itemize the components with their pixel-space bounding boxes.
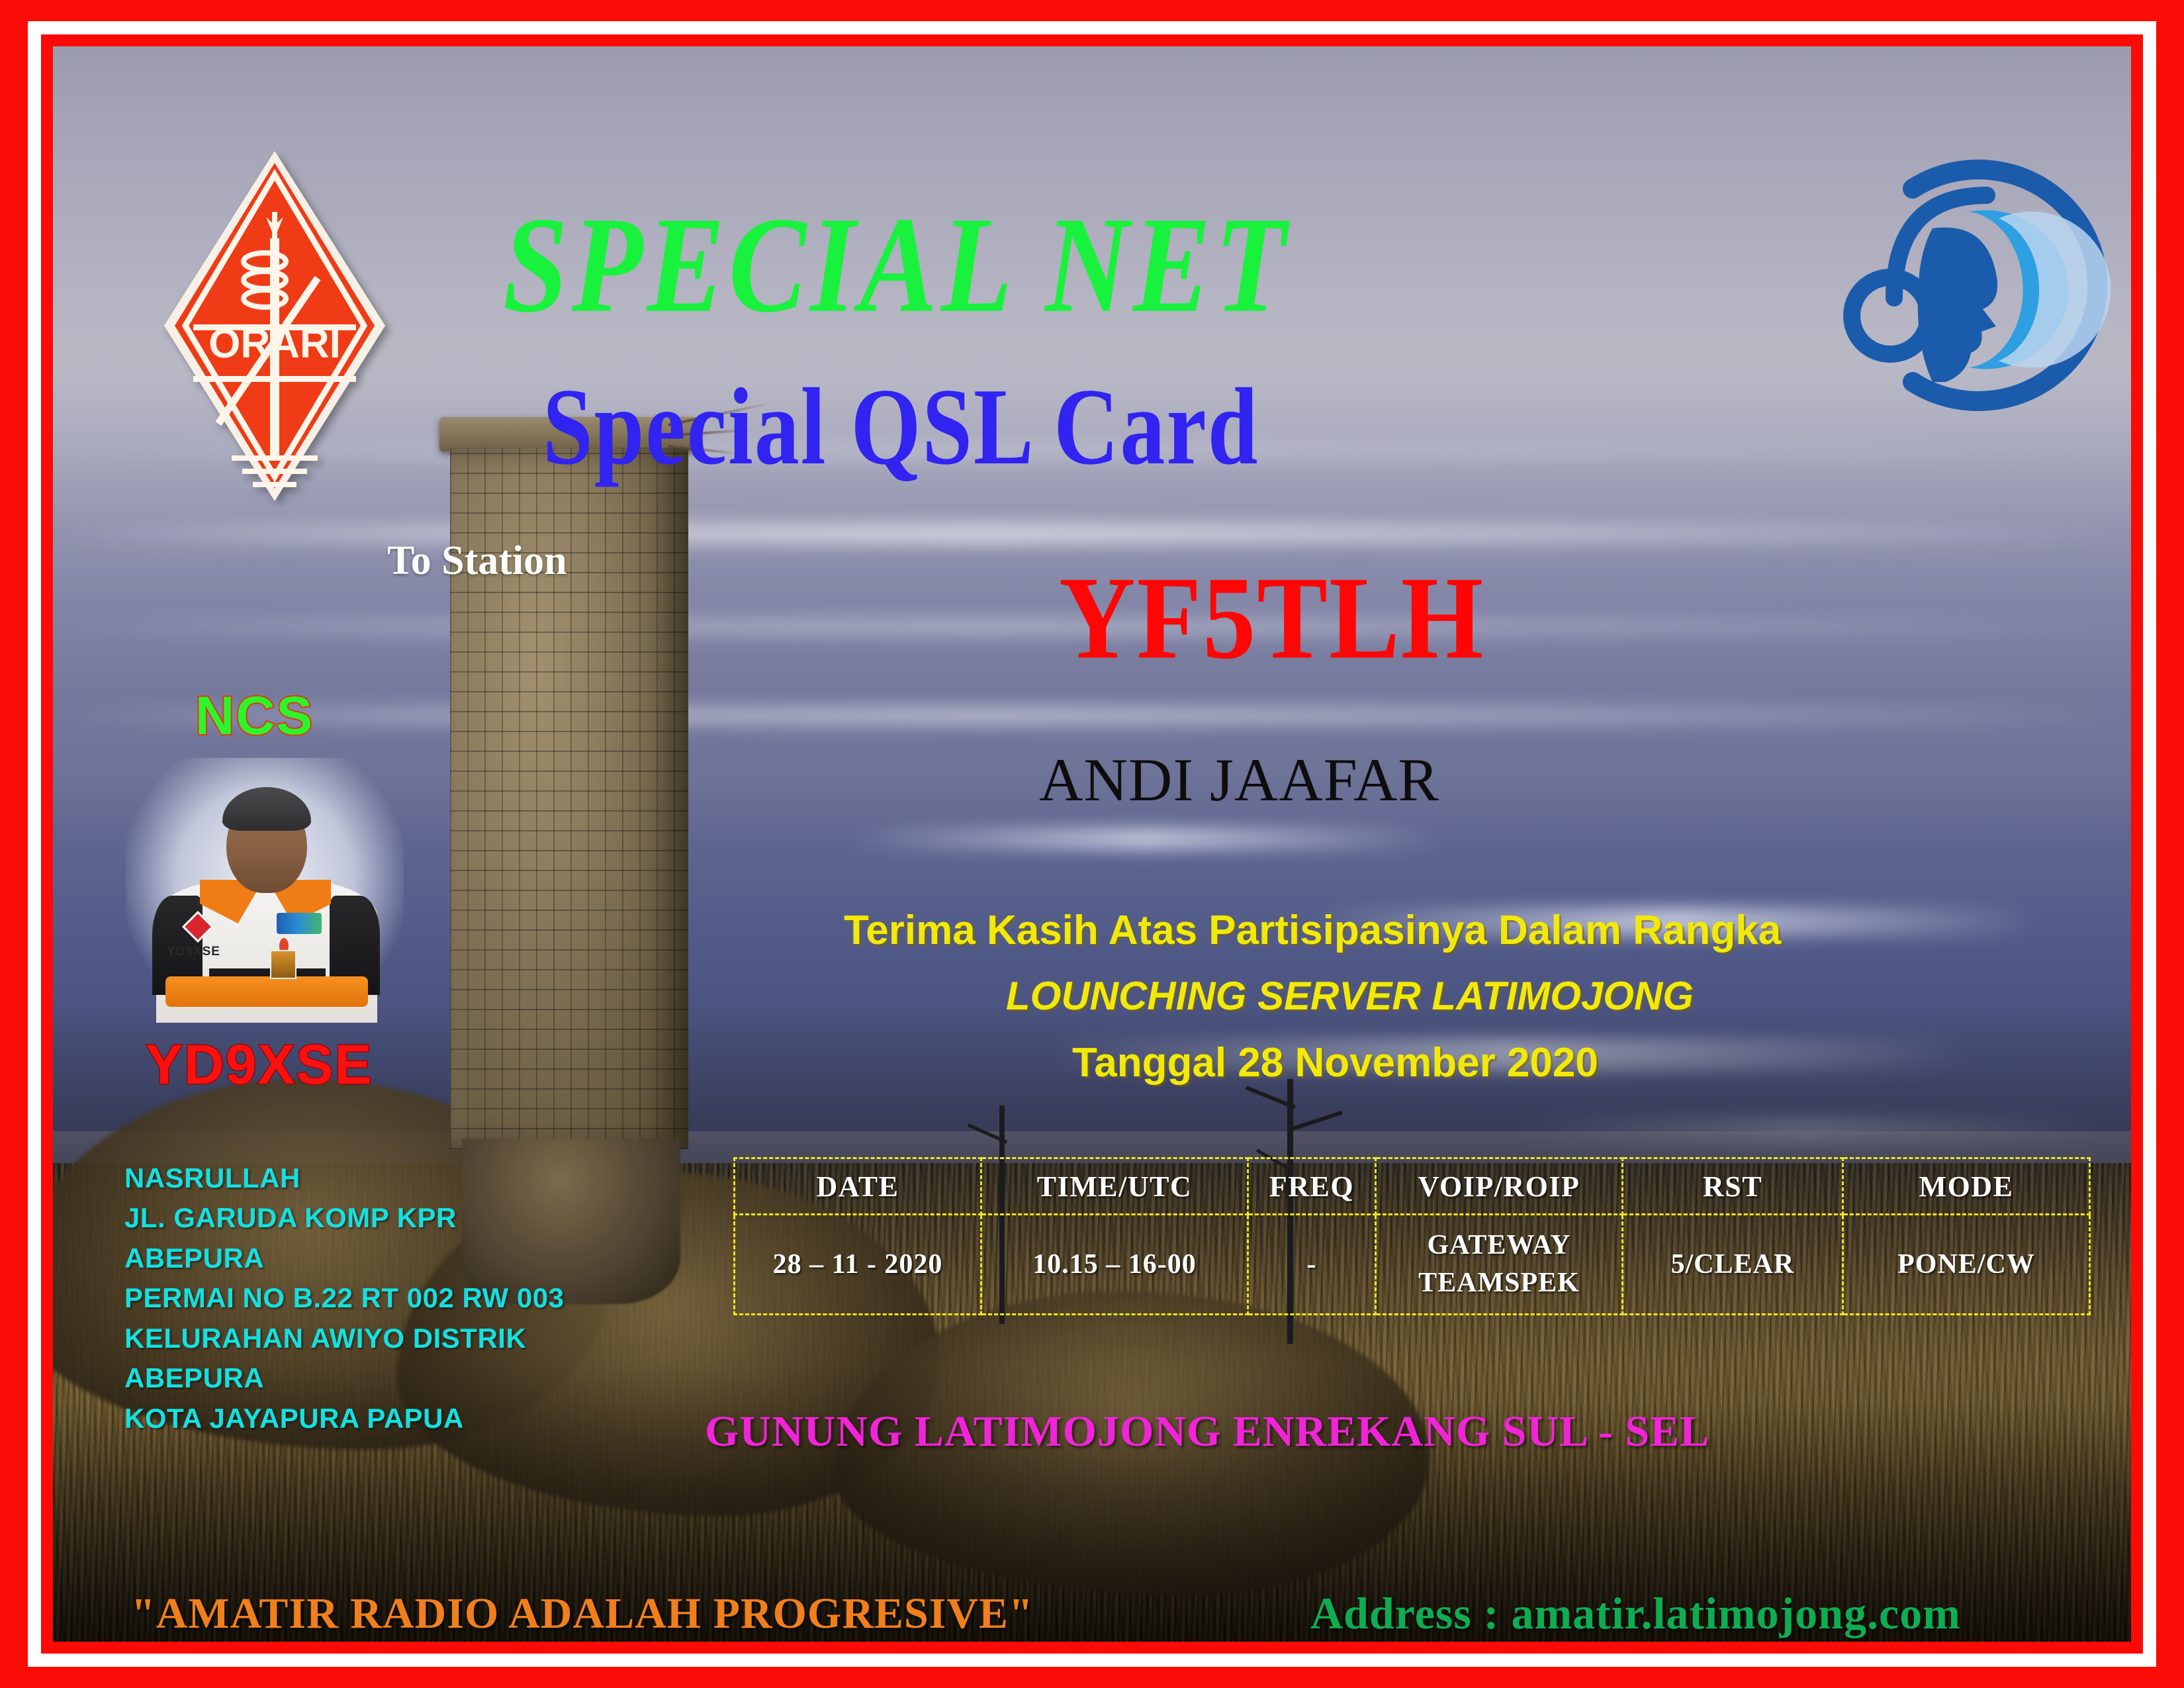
address-line: NASRULLAH	[124, 1158, 564, 1198]
address-line: ABEPURA	[124, 1358, 564, 1398]
address-line: JL. GARUDA KOMP KPR	[124, 1198, 564, 1238]
cell-voip: GATEWAY TEAMSPEK	[1376, 1215, 1623, 1315]
column-header-rst: RST	[1623, 1158, 1843, 1215]
cell-date: 28 – 11 - 2020	[735, 1215, 981, 1315]
headphone-operator-logo	[1833, 149, 2111, 414]
to-station-callsign: YF5TLH	[1059, 549, 1484, 686]
thanks-line-2: LOUNCHING SERVER LATIMOJONG	[1006, 973, 1694, 1019]
valley-cloud	[847, 827, 1443, 850]
cloud-streak	[53, 525, 2131, 542]
card-photo-area: ORARI SPECIAL NET Special Q	[53, 46, 2131, 1642]
orari-logo-text: ORARI	[208, 321, 341, 367]
portrait-id-badge	[270, 950, 296, 979]
location-line: GUNUNG LATIMOJONG ENREKANG SUL - SEL	[705, 1407, 1709, 1457]
orari-diamond-logo: ORARI	[152, 146, 397, 506]
column-header-voip: VOIP/ROIP	[1376, 1158, 1623, 1215]
portrait-sash	[165, 976, 368, 1007]
station-address-block: NASRULLAH JL. GARUDA KOMP KPR ABEPURA PE…	[124, 1158, 564, 1438]
qso-log-table: DATE TIME/UTC FREQ VOIP/ROIP RST MODE 28…	[733, 1157, 2091, 1315]
portrait-shirt-callsign: YD9XSE	[167, 945, 220, 959]
cloud-streak	[53, 708, 2131, 723]
cell-mode: PONE/CW	[1843, 1215, 2090, 1315]
to-station-label: To Station	[387, 538, 567, 585]
thanks-line-1: Terima Kasih Atas Partisipasinya Dalam R…	[844, 907, 1781, 954]
ncs-callsign: YD9XSE	[146, 1033, 373, 1097]
address-line: PERMAI NO B.22 RT 002 RW 003	[124, 1278, 564, 1318]
ncs-label: NCS	[195, 685, 314, 747]
to-station-operator-name: ANDI JAAFAR	[1039, 745, 1439, 815]
address-line: ABEPURA	[124, 1239, 564, 1278]
column-header-time: TIME/UTC	[981, 1158, 1248, 1215]
thanks-line-3: Tanggal 28 November 2020	[1072, 1039, 1598, 1086]
page-title: SPECIAL NET	[503, 187, 1290, 344]
cell-freq: -	[1248, 1215, 1376, 1315]
cell-rst: 5/CLEAR	[1623, 1215, 1843, 1315]
address-line: KOTA JAYAPURA PAPUA	[124, 1399, 564, 1438]
column-header-freq: FREQ	[1248, 1158, 1376, 1215]
column-header-date: DATE	[735, 1158, 981, 1215]
motto-text: "AMATIR RADIO ADALAH PROGRESIVE"	[131, 1589, 1034, 1639]
page-subtitle: Special QSL Card	[543, 364, 1259, 490]
table-header-row: DATE TIME/UTC FREQ VOIP/ROIP RST MODE	[735, 1158, 2090, 1215]
web-address: Address : amatir.latimojong.com	[1310, 1587, 1961, 1640]
ncs-operator-photo: YD9XSE	[126, 758, 404, 1023]
cell-time: 10.15 – 16-00	[981, 1215, 1248, 1315]
column-header-mode: MODE	[1843, 1158, 2090, 1215]
address-line: KELURAHAN AWIYO DISTRIK	[124, 1319, 564, 1358]
qsl-card-outer-frame: ORARI SPECIAL NET Special Q	[0, 0, 2184, 1688]
portrait-chest-logo	[277, 913, 322, 934]
table-row: 28 – 11 - 2020 10.15 – 16-00 - GATEWAY T…	[735, 1215, 2090, 1315]
